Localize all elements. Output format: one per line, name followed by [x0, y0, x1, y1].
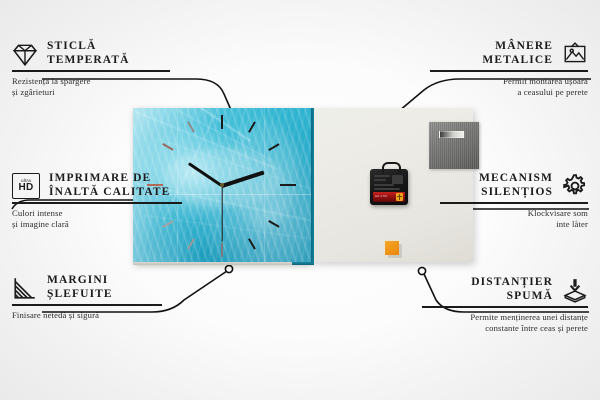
battery: AA 1.5V — [373, 192, 405, 202]
callout-margini-slefuite: MARGINI ȘLEFUITE Finisare netedă și sigu… — [12, 274, 164, 321]
diamond-icon — [12, 41, 38, 67]
callout-subtitle: Rezistență la spargere și zgârieturi — [12, 76, 172, 97]
clock-second-hand — [221, 186, 222, 242]
clock-movement: AA 1.5V — [370, 169, 408, 205]
callout-rule — [430, 70, 588, 72]
back-panel-bottom-edge — [133, 262, 292, 265]
callout-title: IMPRIMARE DE ÎNALTĂ CALITATE — [49, 172, 170, 199]
clock-center-pin — [220, 183, 224, 187]
callout-rule — [12, 70, 170, 72]
clock-tick — [280, 184, 296, 186]
callout-subtitle: Finisare netedă și sigură — [12, 310, 164, 321]
clock-tick — [187, 121, 194, 132]
callout-subtitle: Klockvisare som inte låter — [438, 208, 588, 229]
callout-rule — [422, 306, 588, 308]
battery-label: AA 1.5V — [375, 194, 387, 198]
hanger-slot — [439, 131, 465, 138]
foam-spacer — [385, 241, 399, 255]
callout-title: DISTANȚIER SPUMĂ — [471, 276, 553, 303]
callout-imprimare-hd: ultra HD IMPRIMARE DE ÎNALTĂ CALITATE Cu… — [12, 172, 184, 229]
metal-hanger — [429, 122, 479, 169]
movement-hanging-loop — [382, 162, 401, 174]
gear-icon — [562, 173, 588, 199]
callout-subtitle: Permit montarea ușoară a ceasului pe per… — [428, 76, 588, 97]
ultra-hd-main-label: HD — [18, 183, 33, 193]
callout-manere-metalice: MÂNERE METALICE Permit montarea ușoară a… — [428, 40, 588, 97]
picture-hanger-icon — [562, 41, 588, 67]
callout-title: MECANISM SILENȚIOS — [479, 172, 553, 199]
callout-subtitle: Permite menținerea unei distanțe constan… — [420, 312, 588, 333]
polished-edges-icon — [12, 275, 38, 301]
ultra-hd-icon: ultra HD — [12, 173, 40, 199]
callout-distantier-spuma: DISTANȚIER SPUMĂ Permite menținerea unei… — [420, 276, 588, 333]
clock-tick — [221, 243, 223, 257]
callout-rule — [12, 202, 182, 204]
callout-subtitle: Culori intense și imagine clară — [12, 208, 184, 229]
infographic-stage: AA 1.5V STICLĂ TEMPERATĂ Rezistență la s… — [0, 0, 600, 400]
foam-spacer-icon — [562, 277, 588, 303]
callout-rule — [440, 202, 588, 204]
clock-tick — [187, 238, 194, 249]
clock-tick — [221, 115, 223, 129]
callout-title: MARGINI ȘLEFUITE — [47, 274, 113, 301]
clock-tick — [248, 238, 255, 249]
battery-plus-terminal — [396, 193, 403, 201]
callout-mecanism-silentios: MECANISM SILENȚIOS Klockvisare som inte … — [438, 172, 588, 229]
callout-title: MÂNERE METALICE — [482, 40, 553, 67]
callout-sticla-temperata: STICLĂ TEMPERATĂ Rezistență la spargere … — [12, 40, 172, 97]
callout-rule — [12, 304, 162, 306]
callout-title: STICLĂ TEMPERATĂ — [47, 40, 130, 67]
product-image: AA 1.5V — [133, 108, 473, 270]
